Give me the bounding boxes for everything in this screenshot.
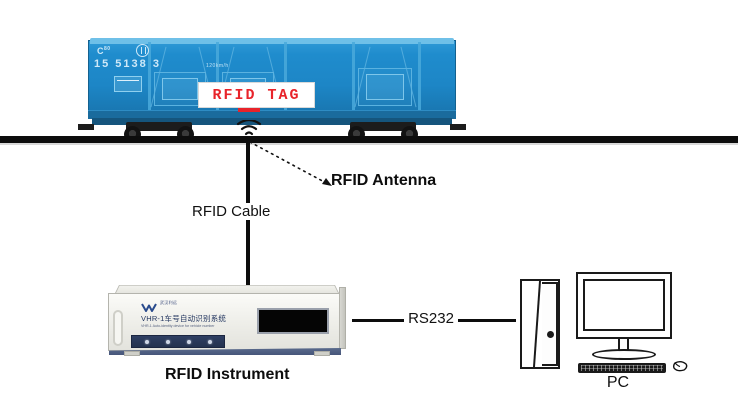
status-led (166, 340, 170, 344)
railcar-roof (90, 38, 454, 44)
railway-track (0, 136, 738, 143)
instrument-foot (124, 351, 140, 356)
instrument-accent-stripe (109, 348, 341, 355)
pc-keyboard-keys (581, 365, 663, 371)
railcar-door-inner (366, 74, 404, 100)
status-led (187, 340, 191, 344)
railcar-coupler (78, 124, 94, 130)
instrument-panel-title: VHR-1车号自动识别系统 (141, 313, 226, 324)
pc-workstation: PC (512, 268, 698, 388)
instrument-indicator-strip (131, 335, 225, 348)
instrument-handle (113, 310, 123, 346)
railcar-stanchion (352, 42, 355, 112)
pc-mouse (672, 360, 689, 373)
rfid-antenna-label: RFID Antenna (331, 172, 436, 190)
instrument-front-panel: 武汉利远 VHR-1车号自动识别系统 VHR-1 Auto-identity d… (108, 293, 340, 351)
railcar-stanchion (418, 42, 421, 112)
railcar-class-marking: C80 (97, 46, 111, 56)
rfid-tag-sign: RFID TAG (198, 82, 315, 108)
railcar-number: 15 5138 3 (94, 58, 161, 70)
rs232-line-right (458, 319, 516, 322)
railcar-info-plate (114, 76, 142, 92)
railcar-plate-lines (117, 80, 139, 83)
rfid-instrument-label: RFID Instrument (165, 366, 289, 384)
instrument-brand-text: 武汉利远 (160, 300, 177, 306)
pc-keyboard (578, 363, 666, 373)
railcar-door-inner (162, 78, 198, 100)
status-led (145, 340, 149, 344)
pc-monitor-base (592, 349, 656, 360)
rs232-line-left (352, 319, 404, 322)
pc-label: PC (578, 374, 658, 392)
instrument-foot (314, 351, 330, 356)
rs232-label: RS232 (404, 310, 458, 327)
rfid-system-diagram: C80 15 5138 3 120km/h RFID TAG (0, 0, 738, 408)
status-led (208, 340, 212, 344)
railcar-speed-rating: 120km/h (206, 63, 229, 69)
manufacturer-logo-icon (141, 299, 157, 308)
rfid-tag-mount (238, 108, 260, 112)
rfid-tag-label: RFID TAG (212, 87, 300, 104)
railway-track-shadow (0, 143, 738, 145)
instrument-panel-subtitle: VHR-1 Auto-identity device for vehicle n… (141, 324, 215, 328)
instrument-display-screen (257, 308, 329, 334)
railway-logo-icon (136, 44, 149, 57)
pc-monitor-screen (583, 279, 665, 331)
rfid-instrument-device: 武汉利远 VHR-1车号自动识别系统 VHR-1 Auto-identity d… (108, 283, 346, 361)
pc-monitor (576, 272, 672, 339)
rfid-cable-label: RFID Cable (190, 203, 272, 220)
pc-tower-front-panel (542, 282, 558, 366)
wifi-signal-icon (236, 120, 262, 137)
power-button-icon (547, 331, 554, 338)
railcar-coupler (450, 124, 466, 130)
instrument-side-panel (339, 287, 346, 349)
